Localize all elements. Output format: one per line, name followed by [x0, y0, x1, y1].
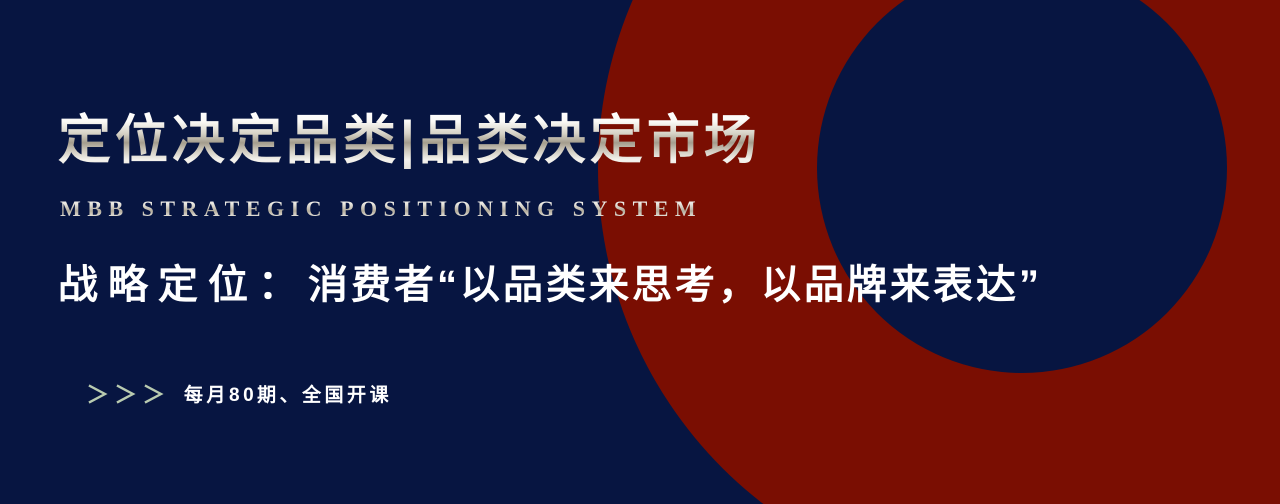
statement-lead: 战略定位： — [58, 263, 308, 307]
eyebrow-subtitle: MBB STRATEGIC POSITIONING SYSTEM — [60, 196, 702, 222]
statement-line: 战略定位：消费者“以品类来思考，以品牌来表达” — [58, 262, 1042, 308]
schedule-note: 每月80期、全国开课 — [86, 380, 392, 407]
chevron-right-icon — [86, 381, 178, 407]
page-title: 定位决定品类|品类决定市场 — [58, 112, 761, 169]
schedule-text: 每月80期、全国开课 — [184, 380, 392, 407]
banner-content: 定位决定品类|品类决定市场 MBB STRATEGIC POSITIONING … — [58, 0, 1280, 504]
promo-banner: 定位决定品类|品类决定市场 MBB STRATEGIC POSITIONING … — [0, 0, 1280, 504]
statement-body: 消费者“以品类来思考，以品牌来表达” — [308, 263, 1042, 307]
